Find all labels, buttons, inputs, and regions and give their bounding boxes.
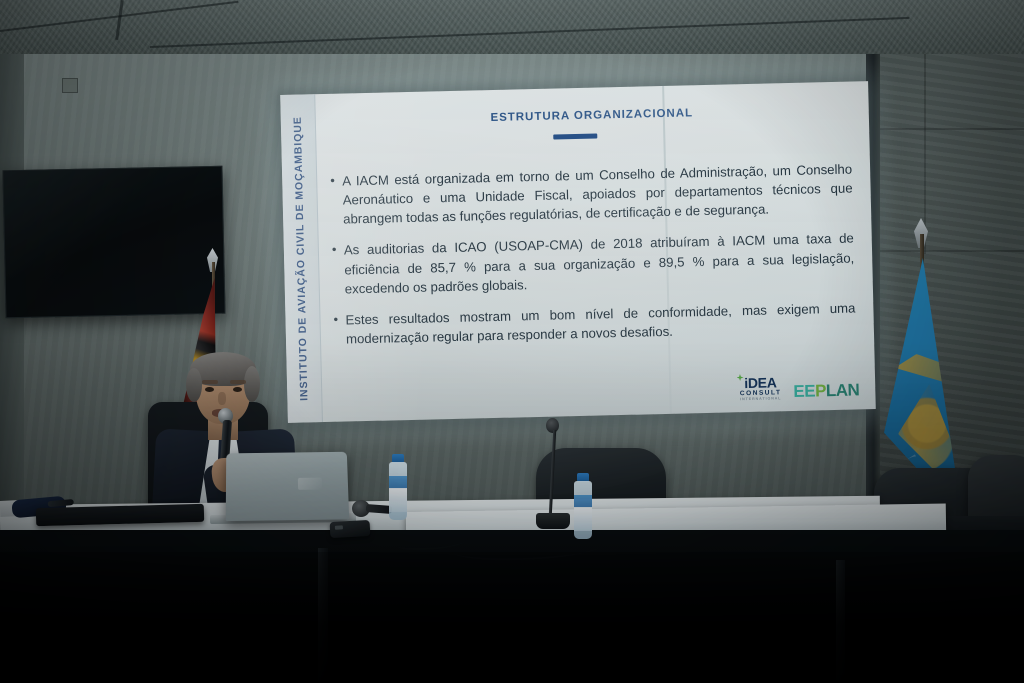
eyebrow-right — [230, 380, 246, 384]
flag-gold-band — [892, 354, 960, 384]
slide-bullet-list: • A IACM está organizada em torno de um … — [330, 160, 856, 361]
handheld-microphone-on-table — [352, 500, 392, 518]
hair-side-right — [244, 366, 260, 402]
wall-socket — [62, 78, 78, 93]
table-leg — [836, 560, 845, 680]
slide-logo-row: iDEA CONSULT INTERNATIONAL EEPLAN — [739, 373, 859, 402]
slide-title: ESTRUTURA ORGANIZACIONAL — [315, 103, 869, 128]
bottle-label — [389, 488, 407, 512]
flag-emblem — [898, 384, 956, 470]
water-bottle — [389, 454, 407, 520]
bullet-marker: • — [332, 241, 342, 260]
institution-flag — [884, 234, 970, 504]
remote-control — [330, 520, 371, 538]
projection-screen: INSTITUTO DE AVIAÇÃO CIVIL DE MOÇAMBIQUE… — [268, 62, 878, 422]
eeplan-logo-part2: P — [815, 381, 826, 400]
title-underline-rule — [553, 134, 597, 140]
wall-crack — [876, 128, 1024, 130]
list-item: • As auditorias da ICAO (USOAP-CMA) de 2… — [332, 229, 855, 299]
bullet-text: Estes resultados mostram um bom nível de… — [345, 298, 856, 348]
eeplan-logo: EEPLAN — [793, 381, 859, 401]
ceiling-seam — [150, 17, 910, 48]
hair-side-left — [186, 368, 202, 402]
bottle-body — [574, 481, 592, 539]
eeplan-logo-part3: LAN — [826, 380, 860, 400]
water-bottle — [574, 473, 592, 539]
ceiling — [0, 0, 1024, 62]
list-item: • Estes resultados mostram um bom nível … — [333, 298, 856, 349]
microphone-stem — [549, 430, 556, 516]
table-leg — [318, 548, 328, 683]
bullet-text: As auditorias da ICAO (USOAP-CMA) de 201… — [344, 229, 855, 298]
laptop — [226, 452, 349, 521]
eye-left — [205, 387, 214, 392]
presentation-slide: INSTITUTO DE AVIAÇÃO CIVIL DE MOÇAMBIQUE… — [280, 81, 876, 423]
idea-logo-wordmark: iDEA — [739, 375, 781, 390]
wall-crack — [924, 54, 926, 254]
gooseneck-microphone — [536, 418, 570, 536]
eeplan-logo-part1: EE — [793, 381, 815, 401]
bottle-body — [389, 462, 407, 520]
bottle-label — [574, 507, 592, 531]
presentation-room-photo: INSTITUTO DE AVIAÇÃO CIVIL DE MOÇAMBIQUE… — [0, 0, 1024, 683]
bullet-text: A IACM está organizada em torno de um Co… — [342, 160, 853, 229]
bullet-marker: • — [330, 172, 340, 191]
idea-logo-tagline: INTERNATIONAL — [740, 398, 782, 403]
nose — [218, 392, 226, 405]
list-item: • A IACM está organizada em torno de um … — [330, 160, 853, 230]
eyebrow-left — [202, 380, 218, 384]
eye-right — [233, 387, 242, 392]
microphone-base — [536, 513, 570, 529]
idea-consult-logo: iDEA CONSULT INTERNATIONAL — [739, 375, 781, 402]
ceiling-seam — [115, 0, 124, 40]
flag-cloth — [884, 258, 956, 494]
bullet-marker: • — [333, 310, 343, 329]
